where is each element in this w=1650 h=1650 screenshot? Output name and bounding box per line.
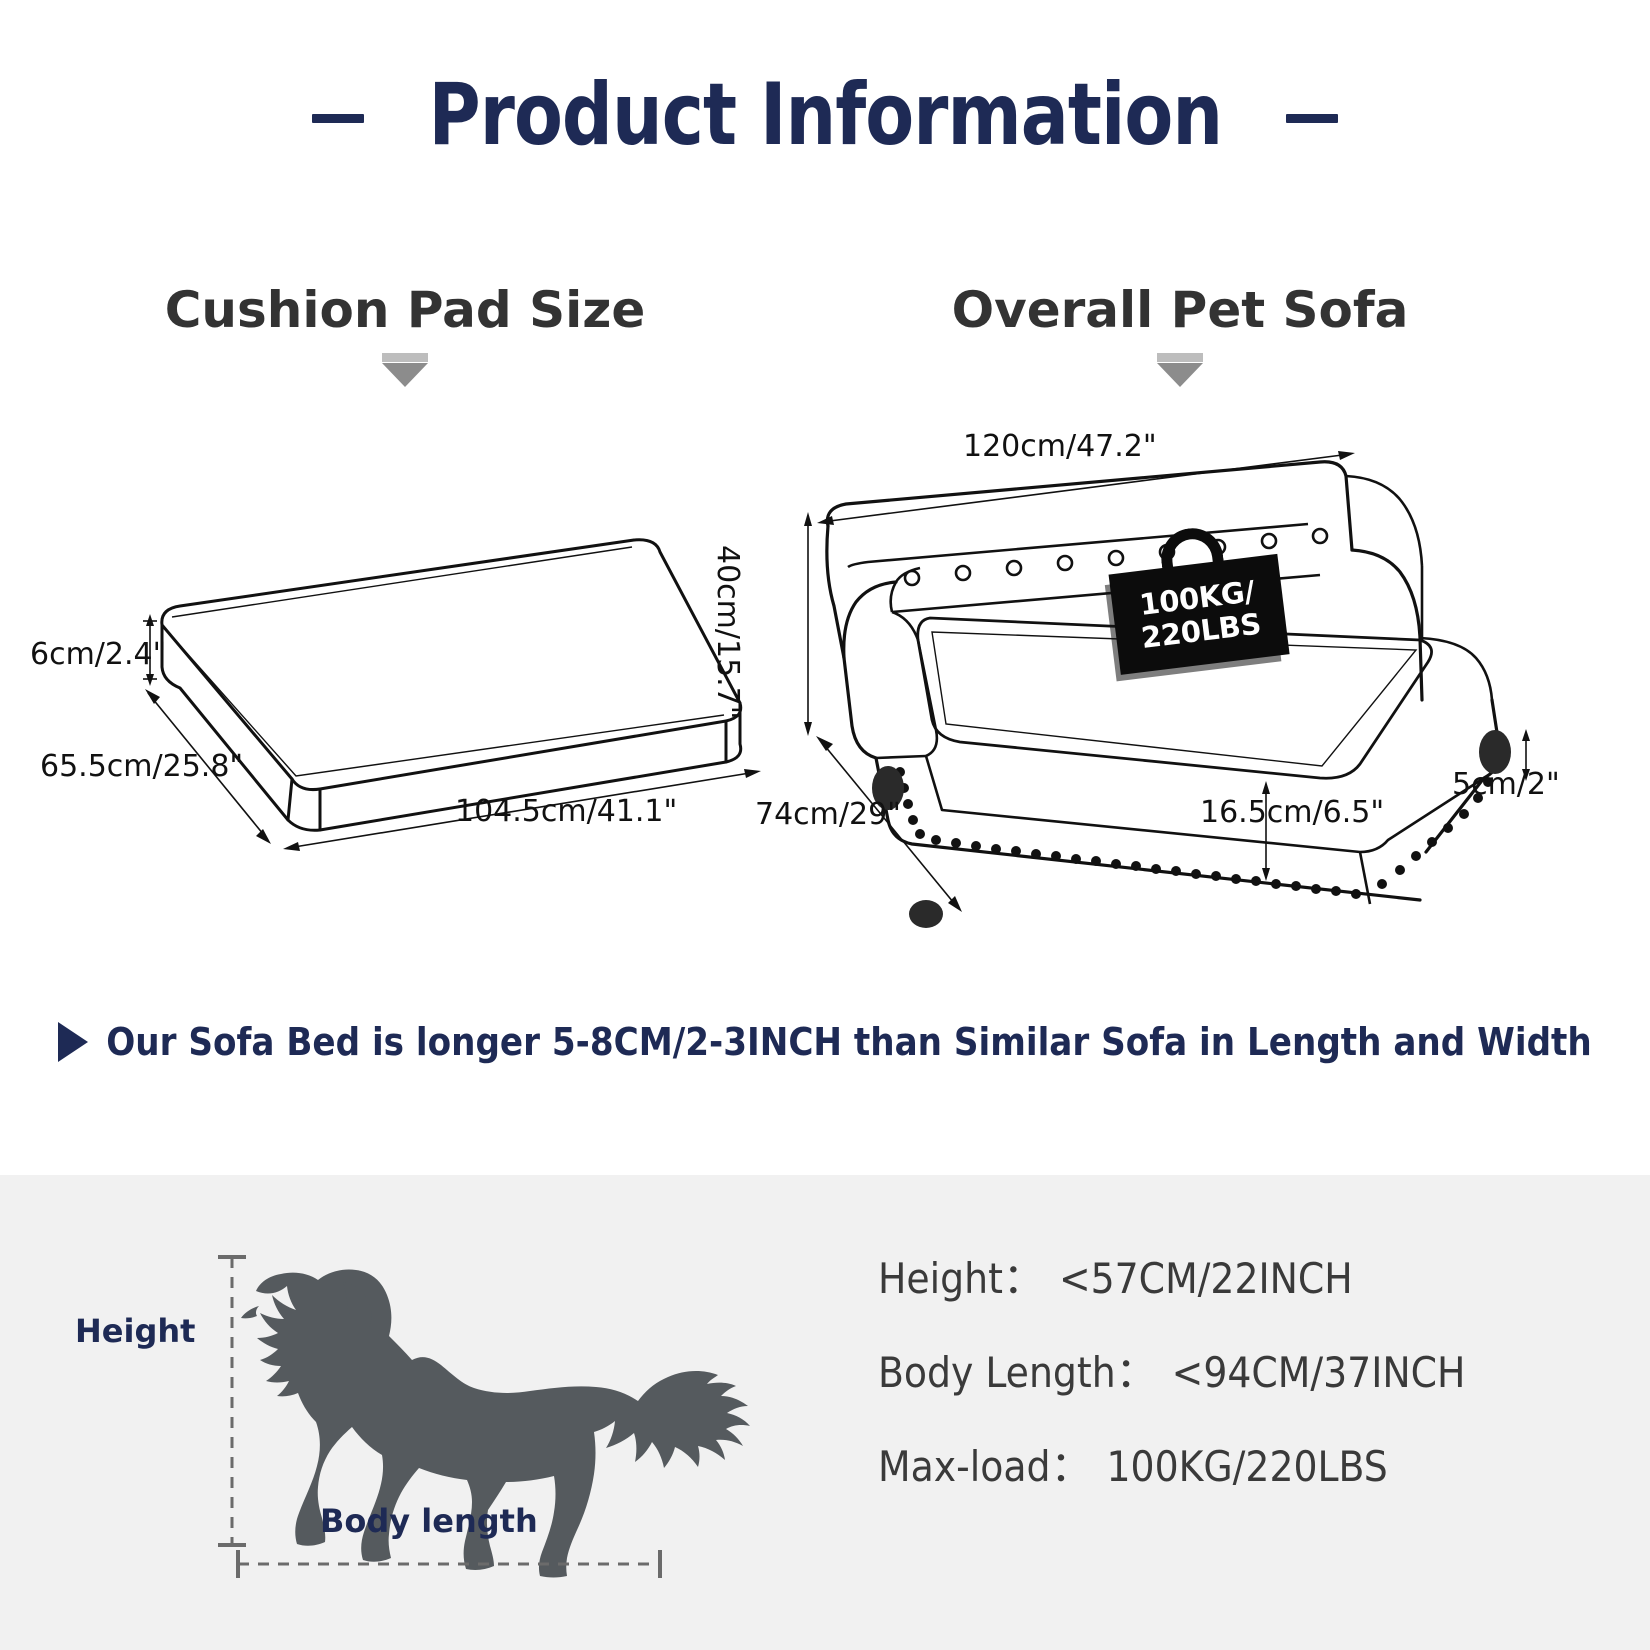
measure-sofa-depth: 74cm/29" (755, 800, 901, 830)
spec-row-height: Height：<57CM/22INCH (878, 1258, 1618, 1300)
measure-sofa-height: 40cm/15.7" (712, 545, 742, 720)
spec-value-body-length: <94CM/37INCH (1172, 1348, 1466, 1397)
dog-height-label: Height (75, 1315, 195, 1347)
cushion-pad-section-heading: Cushion Pad Size (95, 285, 715, 387)
down-arrow-icon (382, 353, 428, 387)
spec-label-height: Height： (878, 1254, 1045, 1303)
dog-body-length-label: Body length (320, 1505, 538, 1537)
title-dash-left (312, 114, 364, 123)
tagline-row: Our Sofa Bed is longer 5-8CM/2-3INCH tha… (0, 1022, 1650, 1062)
measure-cushion-width: 65.5cm/25.8" (40, 752, 243, 782)
measure-sofa-width: 120cm/47.2" (963, 432, 1157, 462)
measure-sofa-base-height: 16.5cm/6.5" (1200, 798, 1384, 828)
spec-value-height: <57CM/22INCH (1059, 1254, 1353, 1303)
page-title: Product Information (428, 72, 1222, 158)
dog-spec-list: Height：<57CM/22INCH Body Length：<94CM/37… (878, 1258, 1618, 1540)
spec-row-max-load: Max-load：100KG/220LBS (878, 1446, 1618, 1488)
measure-sofa-foot-height: 5cm/2" (1452, 770, 1560, 800)
weight-tag-body: 100KG/ 220LBS (1109, 554, 1290, 675)
product-information-infographic: Product Information Cushion Pad Size Ove… (0, 0, 1650, 1650)
down-arrow-icon (1157, 353, 1203, 387)
cushion-pad-heading-text: Cushion Pad Size (95, 285, 715, 335)
measure-cushion-height: 6cm/2.4" (30, 640, 166, 670)
title-dash-right (1286, 114, 1338, 123)
overall-sofa-section-heading: Overall Pet Sofa (870, 285, 1490, 387)
spec-row-body-length: Body Length：<94CM/37INCH (878, 1352, 1618, 1394)
spec-value-max-load: 100KG/220LBS (1107, 1442, 1388, 1491)
spec-label-body-length: Body Length： (878, 1348, 1158, 1397)
play-triangle-icon (58, 1022, 88, 1062)
tagline-text: Our Sofa Bed is longer 5-8CM/2-3INCH tha… (106, 1023, 1592, 1061)
spec-label-max-load: Max-load： (878, 1442, 1093, 1491)
overall-sofa-heading-text: Overall Pet Sofa (870, 285, 1490, 335)
page-title-row: Product Information (0, 72, 1650, 158)
measure-cushion-length: 104.5cm/41.1" (455, 797, 677, 827)
max-load-weight-tag-icon: 100KG/ 220LBS (1104, 520, 1289, 675)
